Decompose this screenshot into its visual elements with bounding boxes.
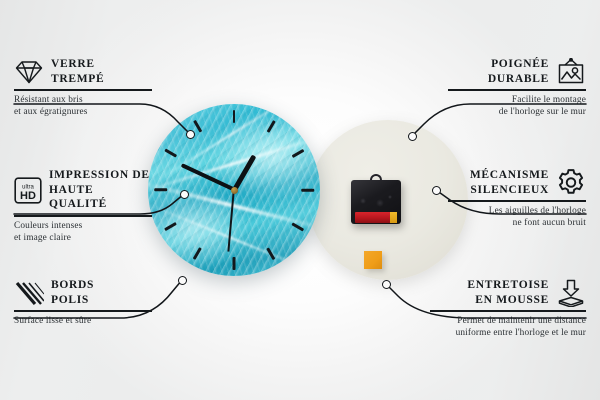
feature-rule <box>14 215 152 217</box>
gear-icon <box>556 168 586 197</box>
connector-dot-6 <box>382 280 391 289</box>
feature-title: MÉCANISME SILENCIEUX <box>470 168 549 197</box>
subtitle-line: uniforme entre l'horloge et le mur <box>430 327 586 339</box>
connector-dot-1 <box>186 130 195 139</box>
subtitle-line: Résistant aux bris <box>14 94 152 106</box>
clock-face <box>148 104 320 276</box>
subtitle-line: et aux égratignures <box>14 106 152 118</box>
feature-title: VERRE TREMPÉ <box>51 57 104 86</box>
subtitle-line: Couleurs intenses <box>14 220 152 232</box>
feature-rule <box>448 89 586 91</box>
feature-heading: VERRE TREMPÉ <box>14 57 152 86</box>
feature-durable-handle: POIGNÉE DURABLE Facilite le montage de l… <box>448 57 586 119</box>
feature-heading: MÉCANISME SILENCIEUX <box>448 168 586 197</box>
hour-tick <box>233 257 236 270</box>
connector-dot-4 <box>408 132 417 141</box>
feature-subtitle: Facilite le montage de l'horloge sur le … <box>448 94 586 119</box>
connector-dot-2 <box>180 190 189 199</box>
feature-rule <box>14 89 152 91</box>
ultra-hd-icon-bottom-text: HD <box>20 190 36 202</box>
battery <box>355 212 397 223</box>
clock-mechanism <box>351 174 401 224</box>
foam-spacer-icon <box>556 279 586 307</box>
feature-subtitle: Surface lisse et sûre <box>14 315 152 327</box>
mechanism-detail <box>356 192 396 210</box>
product-infographic: VERRE TREMPÉ Résistant aux bris et aux é… <box>0 0 600 400</box>
center-pin <box>231 187 238 194</box>
subtitle-line: et image claire <box>14 232 152 244</box>
feature-subtitle: Couleurs intenses et image claire <box>14 220 152 245</box>
feature-silent-mechanism: MÉCANISME SILENCIEUX Les aiguilles de l'… <box>448 168 586 230</box>
feature-tempered-glass: VERRE TREMPÉ Résistant aux bris et aux é… <box>14 57 152 119</box>
feature-rule <box>430 310 586 312</box>
connector-dot-3 <box>178 276 187 285</box>
title-line: POLIS <box>51 293 94 308</box>
hour-tick <box>154 189 167 192</box>
subtitle-line: Surface lisse et sûre <box>14 315 152 327</box>
diamond-icon <box>14 59 44 85</box>
subtitle-line: ne font aucun bruit <box>448 217 586 229</box>
mechanism-housing <box>351 180 401 224</box>
polished-edges-icon <box>14 280 44 306</box>
feature-heading: BORDS POLIS <box>14 278 152 307</box>
foam-spacer <box>364 251 382 269</box>
title-line: DURABLE <box>488 72 549 87</box>
subtitle-line: de l'horloge sur le mur <box>448 106 586 118</box>
feature-subtitle: Permet de maintenir une distance uniform… <box>430 315 586 340</box>
title-line: ENTRETOISE <box>467 278 549 293</box>
feature-subtitle: Les aiguilles de l'horloge ne font aucun… <box>448 205 586 230</box>
title-line: SILENCIEUX <box>470 183 549 198</box>
title-line: MÉCANISME <box>470 168 549 183</box>
feature-foam-spacer: ENTRETOISE EN MOUSSE Permet de maintenir… <box>430 278 586 340</box>
hour-tick <box>233 110 236 123</box>
ultra-hd-icon: ultra HD <box>14 177 42 204</box>
feature-title: ENTRETOISE EN MOUSSE <box>467 278 549 307</box>
title-line: IMPRESSION DE <box>49 168 152 183</box>
subtitle-line: Facilite le montage <box>448 94 586 106</box>
subtitle-line: Les aiguilles de l'horloge <box>448 205 586 217</box>
title-line: TREMPÉ <box>51 72 104 87</box>
feature-heading: ENTRETOISE EN MOUSSE <box>430 278 586 307</box>
title-line: BORDS <box>51 278 94 293</box>
hour-tick <box>301 189 314 192</box>
feature-title: BORDS POLIS <box>51 278 94 307</box>
subtitle-line: Permet de maintenir une distance <box>430 315 586 327</box>
feature-polished-edges: BORDS POLIS Surface lisse et sûre <box>14 278 152 327</box>
title-line: VERRE <box>51 57 104 72</box>
feature-title: IMPRESSION DE HAUTE QUALITÉ <box>49 168 152 212</box>
feature-rule <box>14 310 152 312</box>
feature-rule <box>448 200 586 202</box>
title-line: EN MOUSSE <box>467 293 549 308</box>
hanging-frame-icon <box>556 58 586 86</box>
title-line: HAUTE QUALITÉ <box>49 183 152 212</box>
feature-heading: POIGNÉE DURABLE <box>448 57 586 86</box>
feature-subtitle: Résistant aux bris et aux égratignures <box>14 94 152 119</box>
title-line: POIGNÉE <box>488 57 549 72</box>
connector-dot-5 <box>432 186 441 195</box>
feature-title: POIGNÉE DURABLE <box>488 57 549 86</box>
feature-high-quality-print: ultra HD IMPRESSION DE HAUTE QUALITÉ Cou… <box>14 168 152 244</box>
feature-heading: ultra HD IMPRESSION DE HAUTE QUALITÉ <box>14 168 152 212</box>
